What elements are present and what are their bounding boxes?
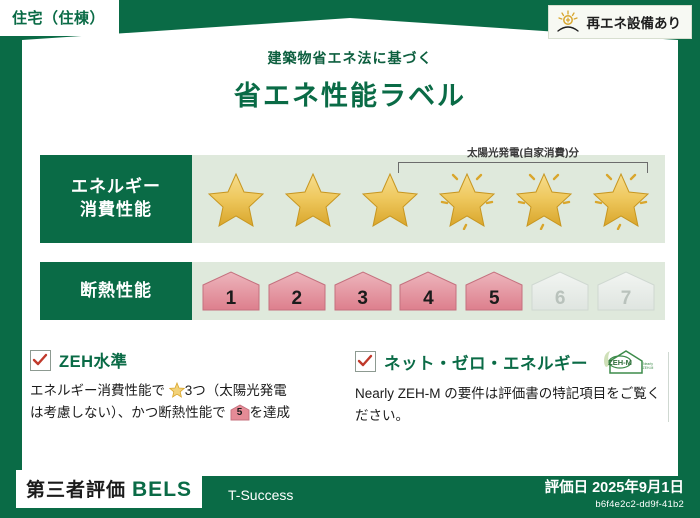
zeh-body-post: を達成 — [250, 405, 291, 420]
grade-house-2-value: 2 — [266, 288, 328, 310]
star-icon-6-solar — [590, 168, 652, 230]
zeh-panel-header: ZEH水準 — [30, 348, 340, 372]
net-zero-energy-panel: ネット・ゼロ・エネルギー ZEH-M Nearly ZEH-M Nearly Z… — [355, 348, 665, 427]
nze-panel-body: Nearly ZEH-M の要件は評価書の特記項目をご覧ください。 — [355, 383, 665, 427]
star-icon-3 — [359, 168, 421, 230]
insulation-label-text: 断熱性能 — [80, 280, 152, 303]
insulation-grade-group: 1 2 3 4 5 — [192, 269, 665, 313]
grade-house-2: 2 — [266, 269, 328, 313]
energy-label-line1: エネルギー — [71, 176, 161, 199]
zeh-panel-body: エネルギー消費性能で 3つ（太陽光発電 は考慮しない）、かつ断熱性能で 5 を達… — [30, 380, 340, 424]
insulation-grade-track: 1 2 3 4 5 — [192, 262, 665, 320]
grade-house-5: 5 — [463, 269, 525, 313]
evaluation-info: 評価日 2025年9月1日 b6f4e2c2-dd9f-41b2 — [545, 476, 684, 510]
zeh-panel-title: ZEH水準 — [59, 348, 128, 372]
star-icon-4-solar — [436, 168, 498, 230]
bels-third-party-label: 第三者評価 — [26, 475, 126, 502]
star-icon-2 — [282, 168, 344, 230]
grade-house-6: 6 — [529, 269, 591, 313]
zeh-standard-panel: ZEH水準 エネルギー消費性能で 3つ（太陽光発電 は考慮しない）、かつ断熱性能… — [30, 348, 340, 424]
renewable-equipment-badge: 再エネ設備あり — [548, 5, 693, 39]
svg-text:ZEH-M: ZEH-M — [608, 358, 632, 367]
grade-house-3: 3 — [332, 269, 394, 313]
star-rating-group — [192, 168, 665, 230]
zeh-checkbox-checked-icon[interactable] — [30, 350, 51, 371]
grade-house-4: 4 — [397, 269, 459, 313]
label-footer: 第三者評価 BELS T-Success 評価日 2025年9月1日 b6f4e… — [0, 472, 700, 518]
zeh-body-pre: エネルギー消費性能で — [30, 383, 165, 398]
page-title: 省エネ性能ラベル — [0, 74, 700, 113]
solar-annotation-label: 太陽光発電(自家消費)分 — [398, 145, 648, 160]
nze-panel-header: ネット・ゼロ・エネルギー ZEH-M Nearly ZEH-M — [355, 348, 665, 375]
grade-house-3-value: 3 — [332, 288, 394, 310]
zeh-m-logo-icon: ZEH-M Nearly ZEH-M — [600, 348, 656, 375]
grade-house-7: 7 — [595, 269, 657, 313]
grade-house-6-value: 6 — [529, 288, 591, 310]
title-block: 建築物省エネ法に基づく 省エネ性能ラベル — [0, 48, 700, 113]
inline-house-icon: 5 — [230, 404, 250, 421]
grade-house-1: 1 — [200, 269, 262, 313]
bels-certification-box: 第三者評価 BELS — [16, 470, 202, 508]
evaluation-date: 評価日 2025年9月1日 — [545, 476, 684, 497]
evaluation-id: b6f4e2c2-dd9f-41b2 — [545, 499, 684, 510]
solar-annotation-bracket — [398, 162, 648, 173]
category-tag: 住宅（住棟） — [0, 0, 119, 36]
energy-label-root: 住宅（住棟） 再エネ設備あり 建築物省エネ法に基づく 省エネ性能ラベル — [0, 0, 700, 518]
zeh-body-stars: 3つ（太陽光発電 — [185, 383, 287, 398]
renewable-badge-label: 再エネ設備あり — [587, 12, 682, 32]
zeh-body-mid: は考慮しない）、かつ断熱性能で — [30, 405, 226, 420]
insulation-performance-row: 断熱性能 1 2 3 — [40, 262, 665, 320]
inline-house-value: 5 — [230, 405, 250, 421]
nze-panel-title: ネット・ゼロ・エネルギー — [384, 350, 588, 374]
insulation-performance-label: 断熱性能 — [40, 262, 192, 320]
energy-label-line2: 消費性能 — [80, 199, 152, 222]
solar-portion-annotation: 太陽光発電(自家消費)分 — [398, 145, 648, 173]
grade-house-7-value: 7 — [595, 288, 657, 310]
grade-house-1-value: 1 — [200, 288, 262, 310]
grade-house-5-value: 5 — [463, 288, 525, 310]
nze-checkbox-checked-icon[interactable] — [355, 351, 376, 372]
svg-text:ZEH-M: ZEH-M — [643, 366, 654, 370]
grade-house-4-value: 4 — [397, 288, 459, 310]
builder-name: T-Success — [228, 487, 293, 503]
star-icon-1 — [205, 168, 267, 230]
panel-divider — [668, 352, 669, 422]
label-subtitle: 建築物省エネ法に基づく — [0, 48, 700, 68]
star-icon-5-solar — [513, 168, 575, 230]
inline-star-icon — [169, 382, 185, 398]
energy-performance-label: エネルギー 消費性能 — [40, 155, 192, 243]
bels-logo-text: BELS — [132, 478, 192, 502]
sun-solar-icon — [555, 10, 581, 34]
